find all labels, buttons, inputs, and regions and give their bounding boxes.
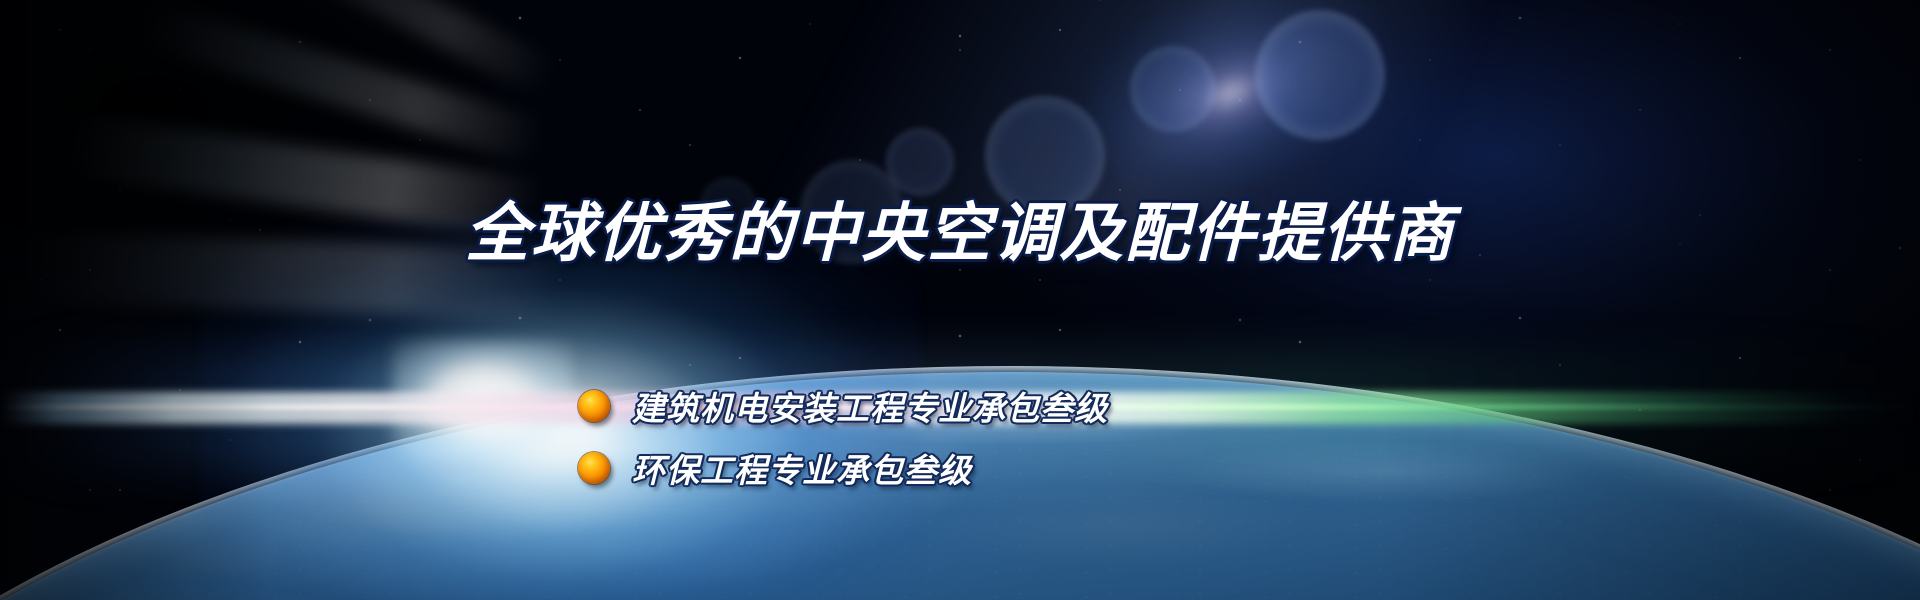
banner-content: 全球优秀的中央空调及配件提供商 建筑机电安装工程专业承包叁级 环保工程专业承包叁… xyxy=(0,0,1920,600)
bullet-item-1: 建筑机电安装工程专业承包叁级 xyxy=(578,375,1108,437)
bullet-item-2: 环保工程专业承包叁级 xyxy=(578,437,1108,499)
bullet-item-1-label: 建筑机电安装工程专业承包叁级 xyxy=(632,382,1108,430)
hero-banner: 全球优秀的中央空调及配件提供商 建筑机电安装工程专业承包叁级 环保工程专业承包叁… xyxy=(0,0,1920,600)
orange-sphere-bullet-icon xyxy=(578,390,610,422)
bullet-item-2-label: 环保工程专业承包叁级 xyxy=(632,444,972,492)
banner-headline: 全球优秀的中央空调及配件提供商 xyxy=(0,198,1920,268)
banner-bullet-list: 建筑机电安装工程专业承包叁级 环保工程专业承包叁级 xyxy=(578,375,1108,499)
orange-sphere-bullet-icon xyxy=(578,452,610,484)
